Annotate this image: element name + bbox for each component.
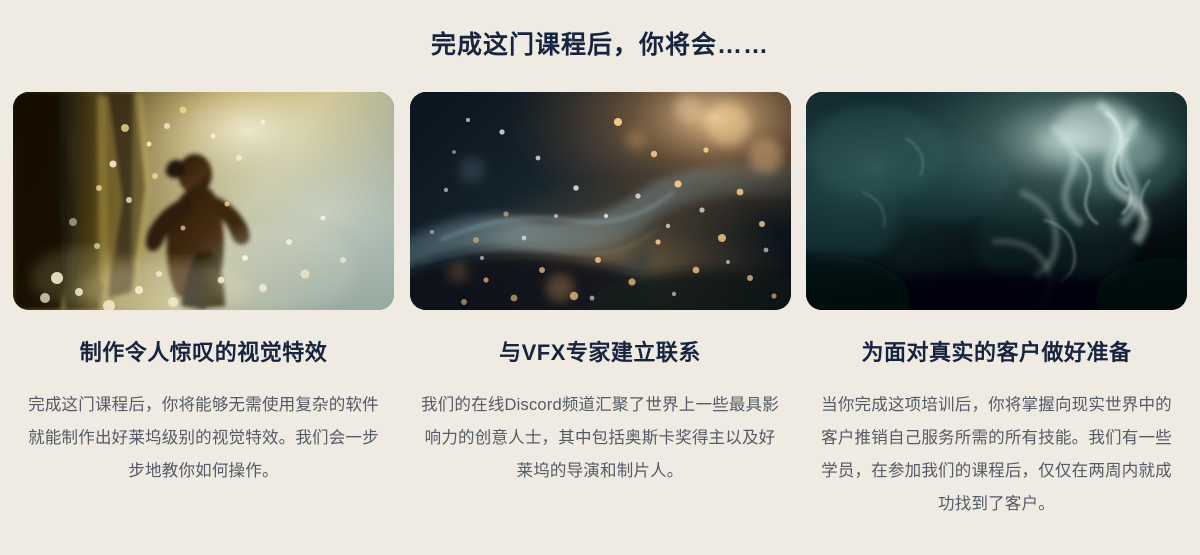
benefit-card-1-title: 制作令人惊叹的视觉特效 [80, 339, 328, 367]
benefit-card-2-title: 与VFX专家建立联系 [499, 339, 701, 367]
page-title: 完成这门课程后，你将会…… [0, 0, 1200, 60]
discord-sparks-bokeh-image [410, 92, 791, 310]
benefit-card-3-title: 为面对真实的客户做好准备 [861, 339, 1131, 367]
teal-smoke-image [806, 92, 1187, 310]
benefit-card-2: 与VFX专家建立联系 我们的在线Discord频道汇聚了世界上一些最具影响力的创… [410, 92, 791, 521]
benefit-card-2-body: 我们的在线Discord频道汇聚了世界上一些最具影响力的创意人士，其中包括奥斯卡… [418, 389, 782, 488]
benefit-card-3: 为面对真实的客户做好准备 当你完成这项培训后，你将掌握向现实世界中的客户推销自己… [806, 92, 1187, 521]
landing-benefits-section: 完成这门课程后，你将会…… [0, 0, 1200, 555]
benefit-cards-row: 制作令人惊叹的视觉特效 完成这门课程后，你将能够无需使用复杂的软件就能制作出好莱… [0, 92, 1200, 521]
vfx-runner-in-water-image [13, 92, 394, 310]
benefit-card-3-body: 当你完成这项培训后，你将掌握向现实世界中的客户推销自己服务所需的所有技能。我们有… [815, 389, 1179, 521]
benefit-card-1-body: 完成这门课程后，你将能够无需使用复杂的软件就能制作出好莱坞级别的视觉特效。我们会… [22, 389, 386, 488]
benefit-card-1: 制作令人惊叹的视觉特效 完成这门课程后，你将能够无需使用复杂的软件就能制作出好莱… [13, 92, 394, 521]
